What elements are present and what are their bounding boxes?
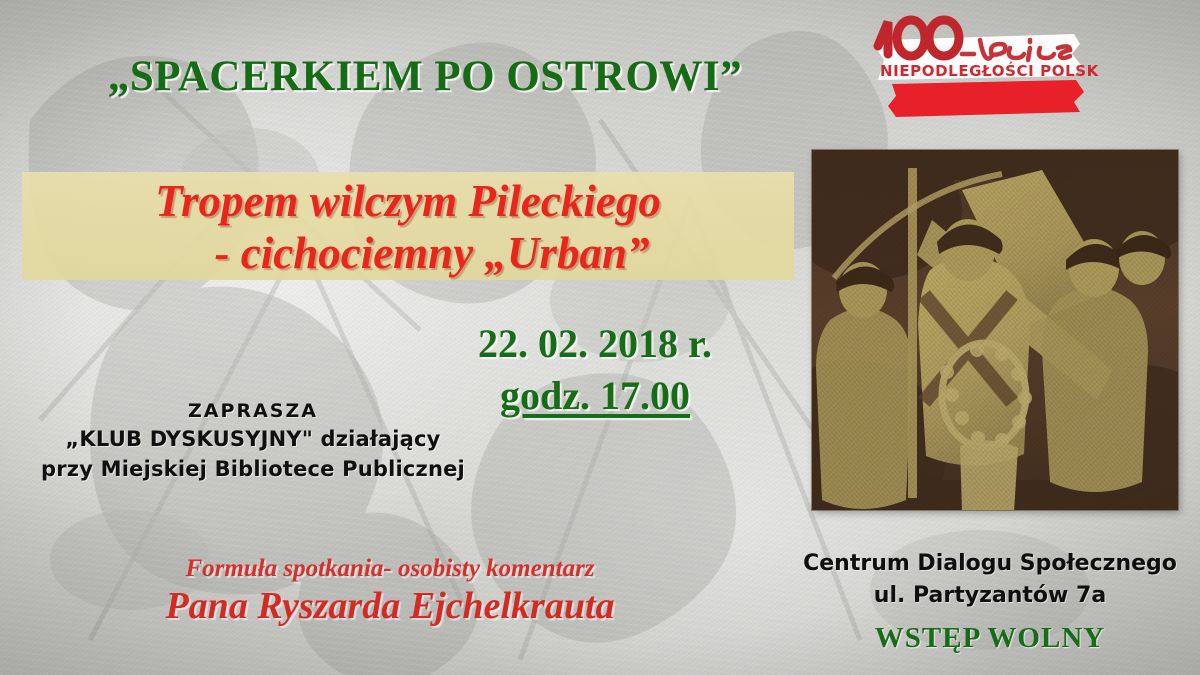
speaker-name: Pana Ryszarda Ejchelkrauta [40, 584, 740, 629]
organiser-block: ZAPRASZA „KLUB DYSKUSYJNY" działający pr… [18, 398, 488, 485]
centenary-logo-graphic: NIEPODLEGŁOŚCI POLSKI [868, 14, 1100, 122]
organiser-line-1: „KLUB DYSKUSYJNY" działający [18, 425, 488, 455]
logo-caption: NIEPODLEGŁOŚCI POLSKI [880, 61, 1100, 80]
invite-label: ZAPRASZA [18, 398, 488, 425]
poster-subtitle: Tropem wilczym Pileckiego - cichociemny … [22, 175, 794, 279]
photograph-illustration [812, 150, 1178, 510]
subtitle-line-2: - cichociemny „Urban” [22, 227, 794, 279]
event-date: 22. 02. 2018 r. [400, 318, 790, 370]
centenary-logo: NIEPODLEGŁOŚCI POLSKI [868, 14, 1100, 122]
event-poster: „SPACERKIEM PO OSTROWI” Tropem wilczym P… [0, 0, 1200, 675]
subtitle-line-1: Tropem wilczym Pileckiego [22, 175, 794, 227]
speaker-block: Formuła spotkania- osobisty komentarz Pa… [40, 553, 740, 629]
venue-name: Centrum Dialogu Społecznego [790, 548, 1190, 580]
venue-address: ul. Partyzantów 7a [790, 580, 1190, 612]
admission-notice: WSTĘP WOLNY [790, 622, 1190, 655]
historical-photograph [812, 150, 1178, 510]
poster-headline: „SPACERKIEM PO OSTROWI” [30, 52, 820, 101]
organiser-line-2: przy Miejskiej Bibliotece Publicznej [18, 455, 488, 485]
flag-red-stripe [888, 80, 1084, 117]
meeting-formula: Formuła spotkania- osobisty komentarz [40, 553, 740, 584]
venue-block: Centrum Dialogu Społecznego ul. Partyzan… [790, 548, 1190, 655]
